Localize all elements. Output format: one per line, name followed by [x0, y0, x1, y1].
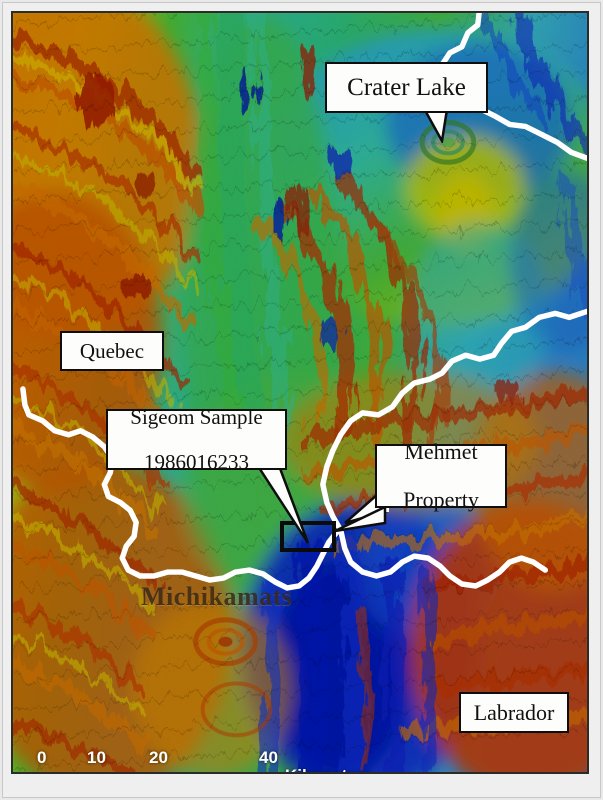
figure-frame: Michikamats Crater Lake Quebec Sigeom Sa… — [0, 0, 603, 800]
callout-labrador-label: Labrador — [461, 701, 567, 725]
scale-tick-0: 0 — [37, 748, 46, 768]
scale-tick-10: 10 — [87, 748, 106, 768]
callout-quebec[interactable]: Quebec — [60, 331, 164, 371]
scale-tick-20: 20 — [149, 748, 168, 768]
callout-sigeom-lines: Sigeom Sample 1986016233 — [108, 406, 285, 474]
callout-quebec-label: Quebec — [62, 340, 162, 363]
mehmet-line-2: Property — [377, 488, 505, 512]
mehmet-line-1: Mehmet — [377, 440, 505, 464]
scale-unit-label: Kilometres — [285, 766, 373, 774]
map-border: Michikamats Crater Lake Quebec Sigeom Sa… — [11, 11, 589, 774]
scale-tick-40: 40 — [259, 748, 278, 768]
aeromagnetic-map-canvas[interactable] — [13, 13, 587, 772]
scale-bar: 0 10 20 40 Kilometres — [37, 748, 437, 774]
sigeom-sample-leader — [228, 461, 338, 553]
callout-sigeom-sample[interactable]: Sigeom Sample 1986016233 — [106, 409, 287, 470]
callout-mehmet-lines: Mehmet Property — [377, 440, 505, 511]
callout-labrador[interactable]: Labrador — [459, 692, 569, 733]
sigeom-line-1: Sigeom Sample — [108, 406, 285, 429]
callout-crater-lake-label: Crater Lake — [327, 74, 486, 101]
map-raster — [13, 13, 587, 772]
sigeom-line-2: 1986016233 — [108, 451, 285, 474]
callout-mehmet-property[interactable]: Mehmet Property — [375, 444, 507, 508]
lake-label-michikamats: Michikamats — [141, 582, 292, 612]
callout-crater-lake[interactable]: Crater Lake — [325, 62, 488, 113]
